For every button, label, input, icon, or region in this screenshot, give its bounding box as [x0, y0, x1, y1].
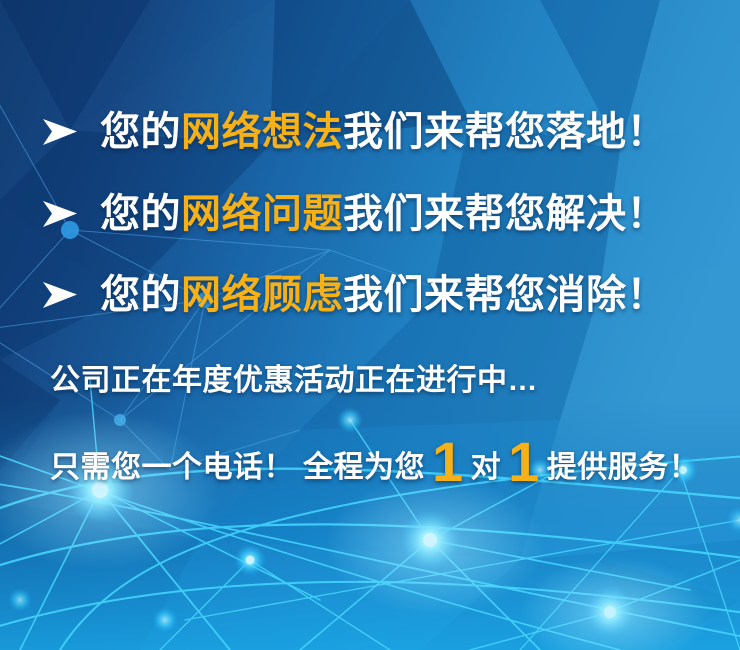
subline-2-part1: 只需您一个电话！ [50, 453, 294, 483]
headline-3-prefix: 您的 [100, 273, 181, 317]
banner-content: 您的网络想法我们来帮您落地！ 您的网络问题我们来帮您解决！ 您的网络顾虑我们来帮… [0, 0, 740, 650]
headline-row-3: 您的网络顾虑我们来帮您消除！ [40, 267, 667, 323]
promo-subline-2: 只需您一个电话！ 全程为您 1 对 1 提供服务！ [50, 430, 699, 486]
headline-text-3: 您的网络顾虑我们来帮您消除！ [100, 275, 667, 315]
headline-1-suffix: 我们来帮您落地！ [343, 110, 667, 154]
headline-text-2: 您的网络问题我们来帮您解决！ [100, 194, 667, 234]
subline-2-part3: 提供服务！ [547, 453, 700, 483]
arrow-right-triangle-icon [40, 115, 80, 149]
headline-1-accent: 网络想法 [181, 110, 343, 154]
headline-3-suffix: 我们来帮您消除！ [343, 273, 667, 317]
headline-row-1: 您的网络想法我们来帮您落地！ [40, 104, 667, 160]
headline-row-2: 您的网络问题我们来帮您解决！ [40, 186, 667, 242]
headline-2-accent: 网络问题 [181, 192, 343, 236]
promo-banner: 您的网络想法我们来帮您落地！ 您的网络问题我们来帮您解决！ 您的网络顾虑我们来帮… [0, 0, 740, 650]
subline-2-middle: 对 [471, 453, 502, 483]
arrow-right-triangle-icon [40, 278, 80, 312]
one-to-one-second-digit: 1 [501, 434, 547, 490]
headline-2-prefix: 您的 [100, 192, 181, 236]
promo-subline-1: 公司正在年度优惠活动正在进行中… [50, 366, 538, 396]
one-to-one-first-digit: 1 [425, 434, 471, 490]
subline-2-part2: 全程为您 [303, 453, 425, 483]
headline-text-1: 您的网络想法我们来帮您落地！ [100, 112, 667, 152]
headline-2-suffix: 我们来帮您解决！ [343, 192, 667, 236]
headline-3-accent: 网络顾虑 [181, 273, 343, 317]
headline-1-prefix: 您的 [100, 110, 181, 154]
arrow-right-triangle-icon [40, 197, 80, 231]
